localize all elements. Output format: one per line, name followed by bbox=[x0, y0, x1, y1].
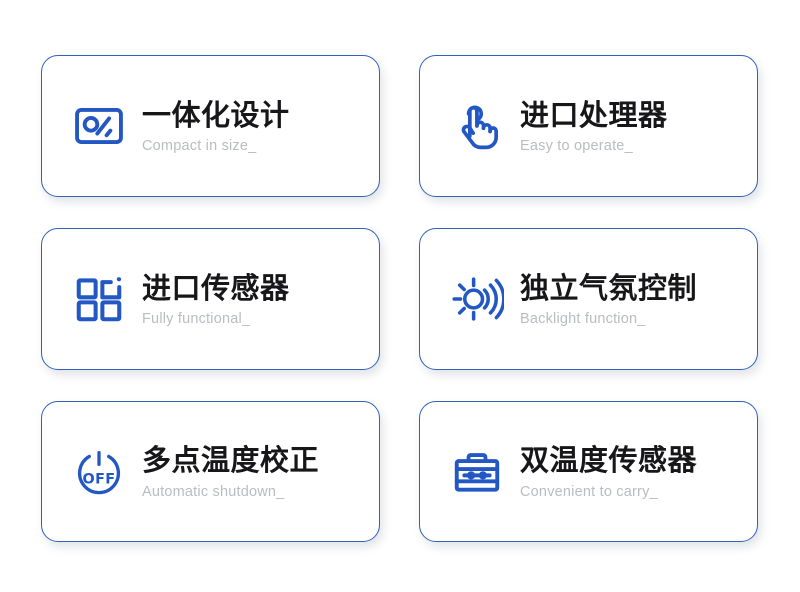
card-text-block: 双温度传感器 Convenient to carry_ bbox=[520, 442, 697, 501]
card-title: 一体化设计 bbox=[142, 99, 290, 131]
card-title: 进口传感器 bbox=[142, 272, 290, 304]
feature-card-imported-sensor[interactable]: 进口传感器 Fully functional_ bbox=[41, 228, 380, 370]
svg-text:OFF: OFF bbox=[82, 471, 115, 487]
card-subtitle: Convenient to carry_ bbox=[520, 484, 697, 501]
card-subtitle: Compact in size_ bbox=[142, 138, 290, 155]
power-off-icon: OFF bbox=[70, 443, 128, 501]
card-title: 多点温度校正 bbox=[142, 444, 319, 476]
card-text-block: 独立气氛控制 Backlight function_ bbox=[520, 270, 697, 329]
card-subtitle: Automatic shutdown_ bbox=[142, 484, 319, 501]
card-text-block: 进口处理器 Easy to operate_ bbox=[520, 97, 668, 156]
card-title: 独立气氛控制 bbox=[520, 272, 697, 304]
feature-card-dual-temp-sensor[interactable]: 双温度传感器 Convenient to carry_ bbox=[419, 401, 758, 542]
card-title: 双温度传感器 bbox=[520, 444, 697, 476]
toolbox-icon bbox=[448, 443, 506, 501]
sun-waves-icon bbox=[448, 270, 506, 328]
feature-card-atmosphere-control[interactable]: 独立气氛控制 Backlight function_ bbox=[419, 228, 758, 370]
card-title: 进口处理器 bbox=[520, 99, 668, 131]
card-subtitle: Fully functional_ bbox=[142, 311, 290, 328]
card-text-block: 一体化设计 Compact in size_ bbox=[142, 97, 290, 156]
card-text-block: 多点温度校正 Automatic shutdown_ bbox=[142, 442, 319, 501]
card-text-block: 进口传感器 Fully functional_ bbox=[142, 270, 290, 329]
tap-hand-icon bbox=[448, 97, 506, 155]
feature-card-compact-design[interactable]: 一体化设计 Compact in size_ bbox=[41, 55, 380, 197]
feature-card-imported-processor[interactable]: 进口处理器 Easy to operate_ bbox=[419, 55, 758, 197]
feature-card-grid: 一体化设计 Compact in size_ 进口处理器 Easy to ope… bbox=[41, 55, 758, 542]
card-subtitle: Easy to operate_ bbox=[520, 138, 668, 155]
feature-card-multipoint-calibration[interactable]: OFF 多点温度校正 Automatic shutdown_ bbox=[41, 401, 380, 542]
grid-squares-icon bbox=[70, 270, 128, 328]
percent-display-icon bbox=[70, 97, 128, 155]
card-subtitle: Backlight function_ bbox=[520, 311, 697, 328]
